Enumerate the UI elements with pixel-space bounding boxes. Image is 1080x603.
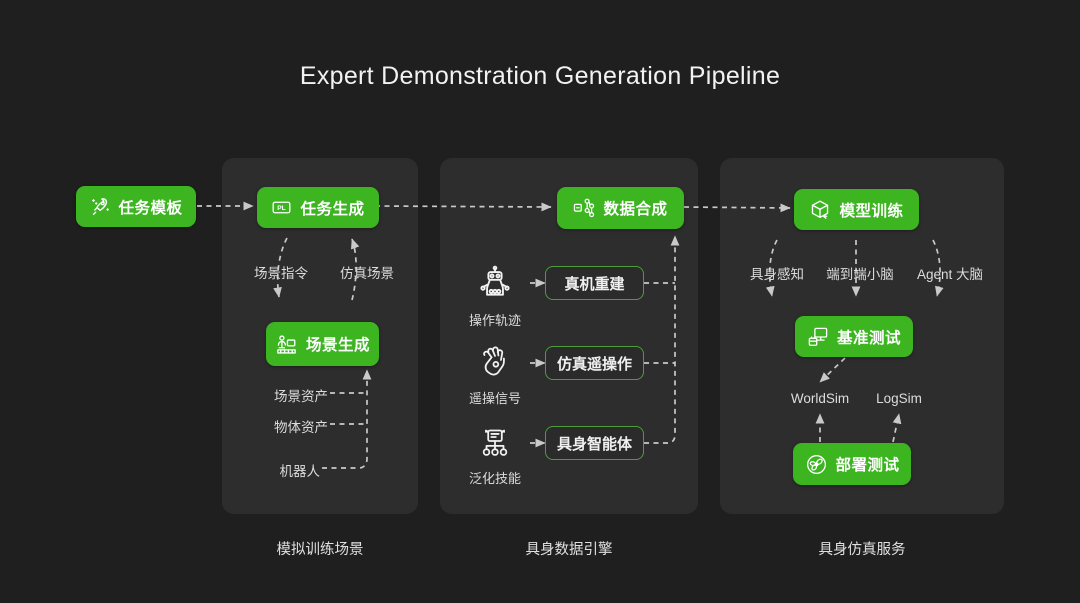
rocket-icon [90, 196, 111, 217]
cube-train-icon [809, 199, 831, 221]
panel-caption-3: 具身仿真服务 [720, 538, 1004, 559]
input-label-scene-assets: 场景资产 [230, 385, 328, 405]
svg-text:PL: PL [278, 205, 287, 212]
node-task-template[interactable]: 任务模板 [76, 186, 196, 227]
page-title: Expert Demonstration Generation Pipeline [0, 62, 1080, 91]
robot-icon [474, 262, 516, 304]
node-label: 真机重建 [564, 273, 624, 294]
edge-label-worldsim: WorldSim [778, 391, 862, 406]
data-synthesis-icon [573, 197, 595, 219]
deploy-icon [805, 453, 828, 476]
edge-label-end-to-end-cerebellum: 端到端小脑 [812, 263, 908, 283]
panel-caption-2: 具身数据引擎 [440, 538, 698, 559]
skill-net-icon [474, 422, 516, 464]
node-embodied-agent[interactable]: 具身智能体 [545, 426, 644, 460]
edge-label-agent-brain: Agent 大脑 [900, 263, 1000, 283]
edge-label-simulation-scene: 仿真场景 [324, 262, 410, 282]
node-model-training[interactable]: 模型训练 [794, 189, 919, 230]
node-label: 具身智能体 [557, 433, 632, 454]
node-benchmark-test[interactable]: 基准测试 [795, 316, 913, 357]
node-deployment-test[interactable]: 部署测试 [793, 443, 911, 485]
node-label: 任务生成 [300, 197, 364, 219]
edge-label-logsim: LogSim [862, 391, 936, 406]
node-label: 部署测试 [836, 453, 900, 475]
icon-label-generalization-skills: 泛化技能 [455, 468, 535, 487]
node-task-generation[interactable]: PL 任务生成 [257, 187, 379, 228]
input-label-object-assets: 物体资产 [230, 416, 328, 436]
edge-label-scene-instruction: 场景指令 [238, 262, 324, 282]
node-real-machine-reconstruction[interactable]: 真机重建 [545, 266, 644, 300]
node-scene-generation[interactable]: 场景生成 [266, 322, 379, 366]
pl-tag-icon: PL [271, 197, 292, 218]
scene-robot-icon [275, 333, 298, 356]
node-label: 数据合成 [603, 197, 667, 219]
icon-label-operation-trajectory: 操作轨迹 [455, 310, 535, 329]
node-label: 场景生成 [306, 333, 370, 355]
node-data-synthesis[interactable]: 数据合成 [557, 187, 684, 229]
node-label: 基准测试 [837, 326, 901, 348]
edge-label-embodied-perception: 具身感知 [735, 263, 819, 283]
icon-label-teleop-signal: 遥操信号 [455, 388, 535, 407]
diagram-canvas: Expert Demonstration Generation Pipeline [0, 0, 1080, 603]
node-simulated-teleoperation[interactable]: 仿真遥操作 [545, 346, 644, 380]
benchmark-icon [807, 326, 829, 348]
glove-icon [474, 342, 516, 384]
input-label-robot: 机器人 [230, 460, 320, 480]
panel-caption-1: 模拟训练场景 [222, 538, 418, 559]
node-label: 仿真遥操作 [557, 353, 632, 374]
node-label: 任务模板 [119, 196, 183, 218]
node-label: 模型训练 [839, 199, 903, 221]
